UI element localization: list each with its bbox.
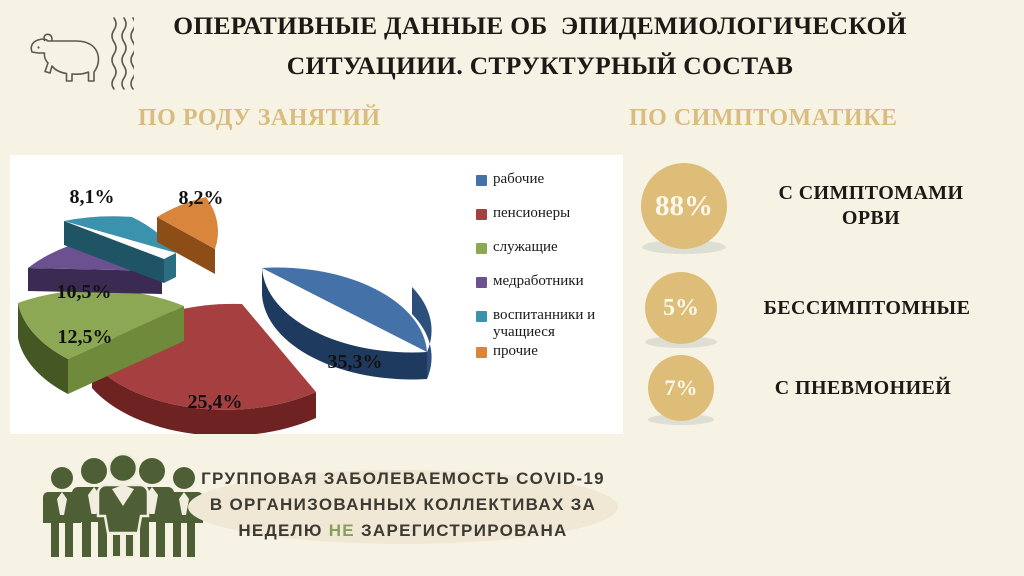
legend-swatch-icon	[476, 277, 487, 288]
footer-message: ГРУППОВАЯ ЗАБОЛЕВАЕМОСТЬ COVID-19 В ОРГА…	[186, 466, 620, 544]
symptom-label: С СИМПТОМАМИ ОРВИ	[746, 181, 996, 231]
wavy-lines-icon	[112, 18, 116, 89]
legend-swatch-icon	[476, 243, 487, 254]
symptom-row-pneumonia: 7% С ПНЕВМОНИЕЙ	[648, 355, 994, 421]
footer-negation-highlight: НЕ	[329, 521, 355, 540]
pie-chart: 35,3% 25,4% 12,5% 10,5%	[10, 155, 480, 434]
occupation-chart-panel: 35,3% 25,4% 12,5% 10,5%	[10, 155, 623, 434]
pie-label-medrabotniki: 10,5%	[57, 281, 112, 303]
symptom-bubble: 5%	[645, 272, 717, 344]
legend-swatch-icon	[476, 209, 487, 220]
infographic-page: ОПЕРАТИВНЫЕ ДАННЫЕ ОБ ЭПИДЕМИОЛОГИЧЕСКОЙ…	[0, 0, 1024, 576]
symptom-label-line-2: ОРВИ	[842, 207, 900, 229]
legend-label: медработники	[493, 273, 584, 290]
legend-swatch-icon	[476, 175, 487, 186]
symptom-label: С ПНЕВМОНИЕЙ	[732, 376, 994, 401]
footer-line-3: НЕДЕЛЮ НЕ ЗАРЕГИСТРИРОВАНА	[186, 518, 620, 544]
pie-label-rabochie: 35,3%	[328, 351, 383, 373]
pie-label-pensionery: 25,4%	[188, 391, 243, 413]
symptom-row-orvi: 88% С СИМПТОМАМИ ОРВИ	[641, 163, 996, 249]
symptom-bubble-wrap: 7%	[648, 355, 714, 421]
logo	[14, 8, 134, 100]
symptom-percent: 88%	[655, 190, 713, 223]
footer-line-2: В ОРГАНИЗОВАННЫХ КОЛЛЕКТИВАХ ЗА	[186, 492, 620, 518]
legend-label: рабочие	[493, 171, 544, 188]
group-of-people-icon	[38, 452, 208, 562]
pie-label-sluzhashchie: 12,5%	[58, 326, 113, 348]
legend-label: прочие	[493, 343, 538, 360]
legend-label: служащие	[493, 239, 558, 256]
symptom-bubble-wrap: 88%	[641, 163, 727, 249]
symptom-row-asymptomatic: 5% БЕССИМПТОМНЫЕ	[645, 272, 999, 344]
symptom-bubble: 88%	[641, 163, 727, 249]
legend-swatch-icon	[476, 347, 487, 358]
legend-item-rabochie[interactable]: рабочие	[476, 171, 618, 188]
legend-swatch-icon	[476, 311, 487, 322]
legend-label: пенсионеры	[493, 205, 570, 222]
footer-line-3-post: ЗАРЕГИСТРИРОВАНА	[355, 521, 568, 540]
section-heading-symptoms: ПО СИМПТОМАТИКЕ	[629, 105, 897, 132]
symptom-label: БЕССИМПТОМНЫЕ	[735, 296, 999, 321]
legend-item-medrabotniki[interactable]: медработники	[476, 273, 618, 290]
bear-eye-icon	[37, 46, 39, 48]
legend-item-vospitanniki[interactable]: воспитанники и учащиеся	[476, 307, 618, 341]
footer-line-1: ГРУППОВАЯ ЗАБОЛЕВАЕМОСТЬ COVID-19	[186, 466, 620, 492]
pie-label-vospitanniki: 8,1%	[70, 186, 115, 208]
legend-item-pensionery[interactable]: пенсионеры	[476, 205, 618, 222]
symptom-percent: 7%	[665, 375, 698, 401]
symptom-bubble-wrap: 5%	[645, 272, 717, 344]
legend-label: воспитанники и учащиеся	[493, 307, 618, 341]
legend-item-sluzhashchie[interactable]: служащие	[476, 239, 618, 256]
bear-outline-icon	[31, 39, 98, 81]
chart-legend: рабочие пенсионеры служащие медработники…	[476, 171, 618, 360]
legend-item-prochie[interactable]: прочие	[476, 343, 618, 360]
symptom-bubble: 7%	[648, 355, 714, 421]
footer-line-3-pre: НЕДЕЛЮ	[238, 521, 328, 540]
section-heading-occupation: ПО РОДУ ЗАНЯТИЙ	[138, 105, 381, 132]
pie-label-prochie: 8,2%	[179, 187, 224, 209]
page-title: ОПЕРАТИВНЫЕ ДАННЫЕ ОБ ЭПИДЕМИОЛОГИЧЕСКОЙ…	[128, 6, 952, 86]
title-line-1: ОПЕРАТИВНЫЕ ДАННЫЕ ОБ ЭПИДЕМИОЛОГИЧЕСКОЙ	[128, 6, 952, 46]
symptom-percent: 5%	[663, 295, 699, 322]
title-line-2: СИТУАЦИИИ. СТРУКТУРНЫЙ СОСТАВ	[128, 46, 952, 86]
symptom-label-line-1: С СИМПТОМАМИ	[778, 182, 963, 204]
